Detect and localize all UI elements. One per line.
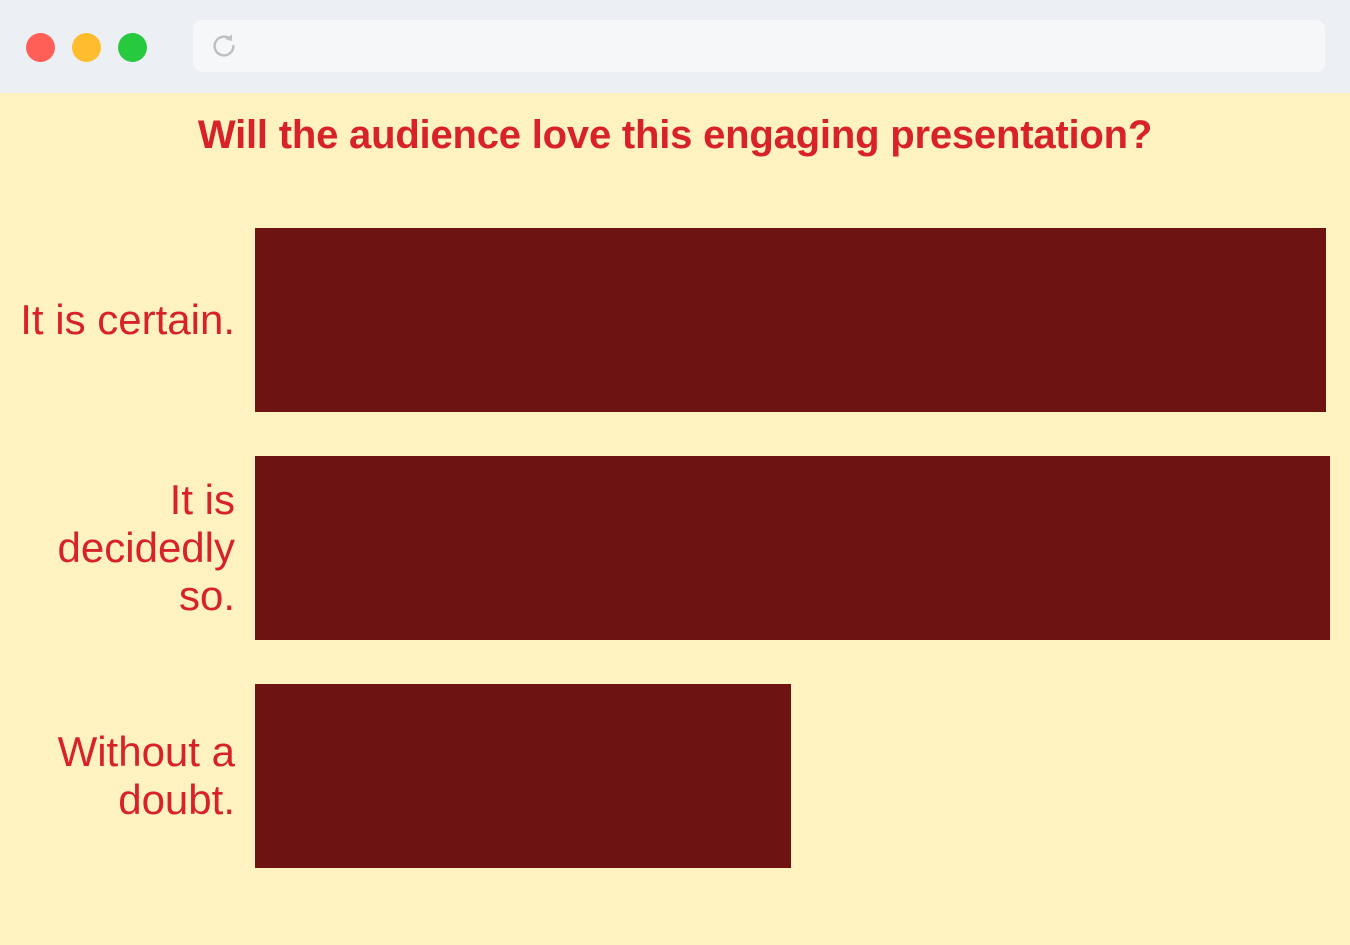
chart-row: Without a doubt.: [0, 684, 1350, 868]
bar-label: Without a doubt.: [0, 728, 245, 824]
minimize-window-button[interactable]: [72, 33, 101, 62]
chart-row: It is decidedly so.: [0, 456, 1350, 640]
window-controls: [26, 33, 147, 62]
close-window-button[interactable]: [26, 33, 55, 62]
result-bar: [255, 228, 1326, 412]
address-bar[interactable]: [193, 20, 1325, 72]
bar-track: [245, 228, 1350, 412]
poll-results-bar-chart: It is certain. It is decidedly so. Witho…: [0, 228, 1350, 912]
result-bar: [255, 684, 791, 868]
bar-track: [245, 684, 1350, 868]
chart-row: It is certain.: [0, 228, 1350, 412]
poll-page: Will the audience love this engaging pre…: [0, 93, 1350, 945]
bar-label: It is certain.: [0, 296, 245, 344]
browser-chrome: [0, 0, 1350, 93]
bar-label: It is decidedly so.: [0, 476, 245, 620]
bar-track: [245, 456, 1350, 640]
maximize-window-button[interactable]: [118, 33, 147, 62]
page-title: Will the audience love this engaging pre…: [0, 113, 1350, 157]
result-bar: [255, 456, 1330, 640]
reload-icon[interactable]: [209, 31, 239, 61]
